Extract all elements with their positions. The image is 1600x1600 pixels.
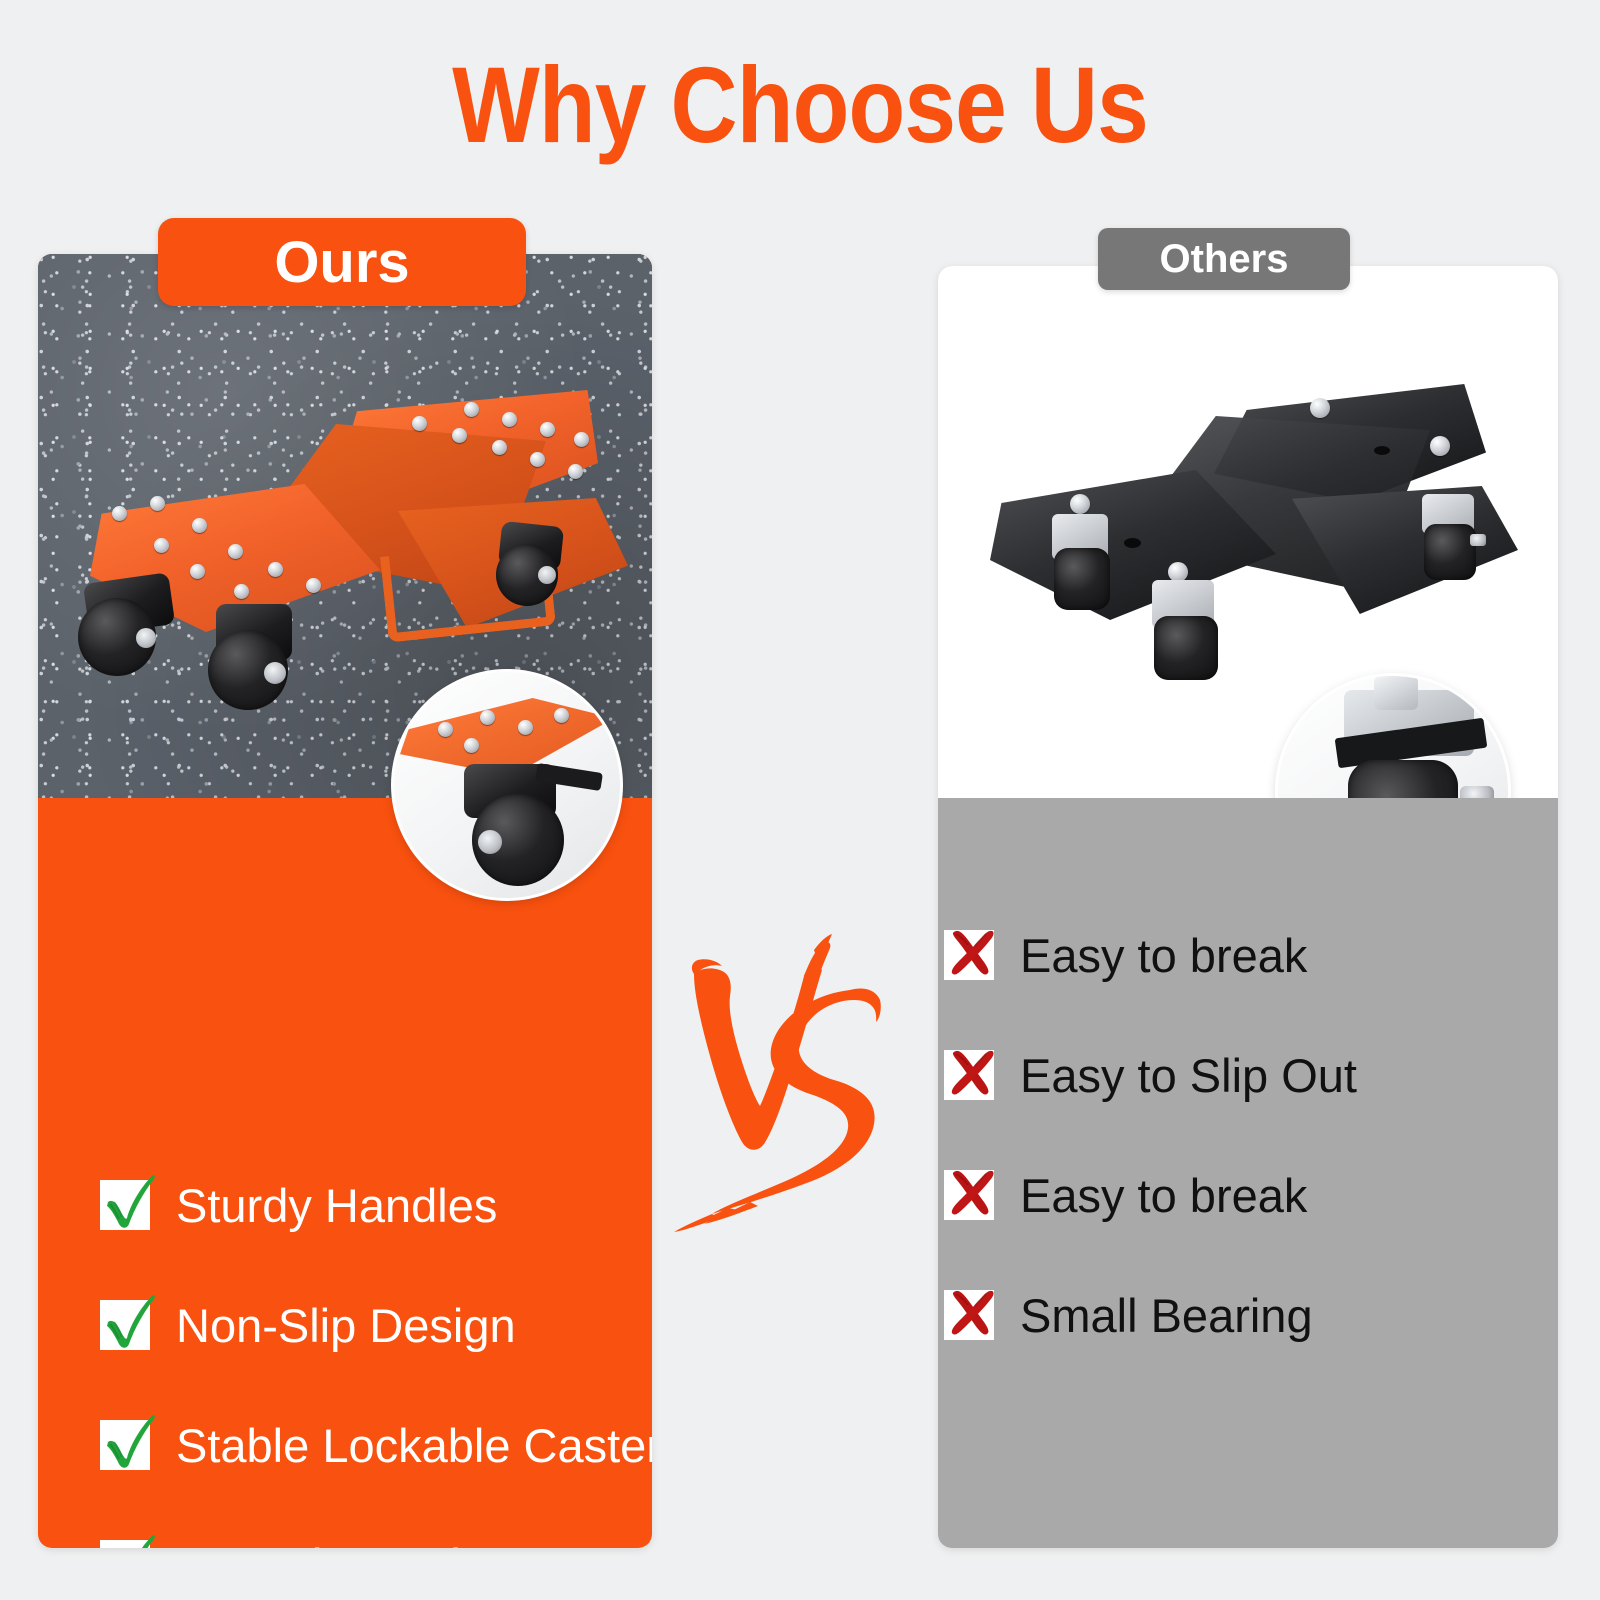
- others-badge: Others: [1098, 228, 1350, 290]
- others-product-photo: [938, 266, 1558, 798]
- red-cross-icon: [944, 1050, 994, 1100]
- others-feature-list: Easy to break Easy to Slip Out: [944, 916, 1544, 1354]
- ours-badge-label: Ours: [274, 229, 409, 296]
- list-item-label: Easy to break: [1020, 932, 1307, 979]
- black-dolly-illustration: [978, 366, 1518, 666]
- list-item: Sturdy Handles: [100, 1166, 652, 1244]
- list-item: Easy to break: [944, 1156, 1544, 1234]
- green-check-icon: [100, 1420, 150, 1470]
- green-check-icon: [100, 1180, 150, 1230]
- red-cross-icon: [944, 1290, 994, 1340]
- list-item-label: Enough Bearing: [176, 1542, 513, 1549]
- list-item: Non-Slip Design: [100, 1286, 652, 1364]
- red-cross-icon: [944, 1170, 994, 1220]
- ours-badge: Ours: [158, 218, 526, 306]
- red-cross-icon: [944, 930, 994, 980]
- green-check-icon: [100, 1300, 150, 1350]
- others-caster-detail-inset: [1278, 676, 1508, 798]
- list-item-label: Non-Slip Design: [176, 1302, 516, 1349]
- list-item: Small Bearing: [944, 1276, 1544, 1354]
- list-item: Easy to Slip Out: [944, 1036, 1544, 1114]
- comparison-infographic: Why Choose Us: [0, 0, 1600, 1600]
- list-item: Stable Lockable Casters: [100, 1406, 652, 1484]
- vs-brush-icon: [664, 926, 904, 1256]
- orange-dolly-illustration: [68, 372, 628, 702]
- green-check-icon: [100, 1540, 150, 1548]
- ours-caster-detail-inset: [394, 672, 620, 898]
- ours-feature-list: Sturdy Handles Non-Slip Design: [100, 1166, 652, 1548]
- list-item-label: Stable Lockable Casters: [176, 1422, 652, 1469]
- list-item-label: Easy to Slip Out: [1020, 1052, 1357, 1099]
- others-badge-label: Others: [1160, 237, 1289, 282]
- others-panel: Easy to break Easy to Slip Out: [938, 266, 1558, 1548]
- ours-panel: Sturdy Handles Non-Slip Design: [38, 254, 652, 1548]
- list-item-label: Sturdy Handles: [176, 1182, 497, 1229]
- list-item-label: Easy to break: [1020, 1172, 1307, 1219]
- list-item: Easy to break: [944, 916, 1544, 994]
- list-item-label: Small Bearing: [1020, 1292, 1313, 1339]
- list-item: Enough Bearing: [100, 1526, 652, 1548]
- page-title: Why Choose Us: [112, 48, 1488, 161]
